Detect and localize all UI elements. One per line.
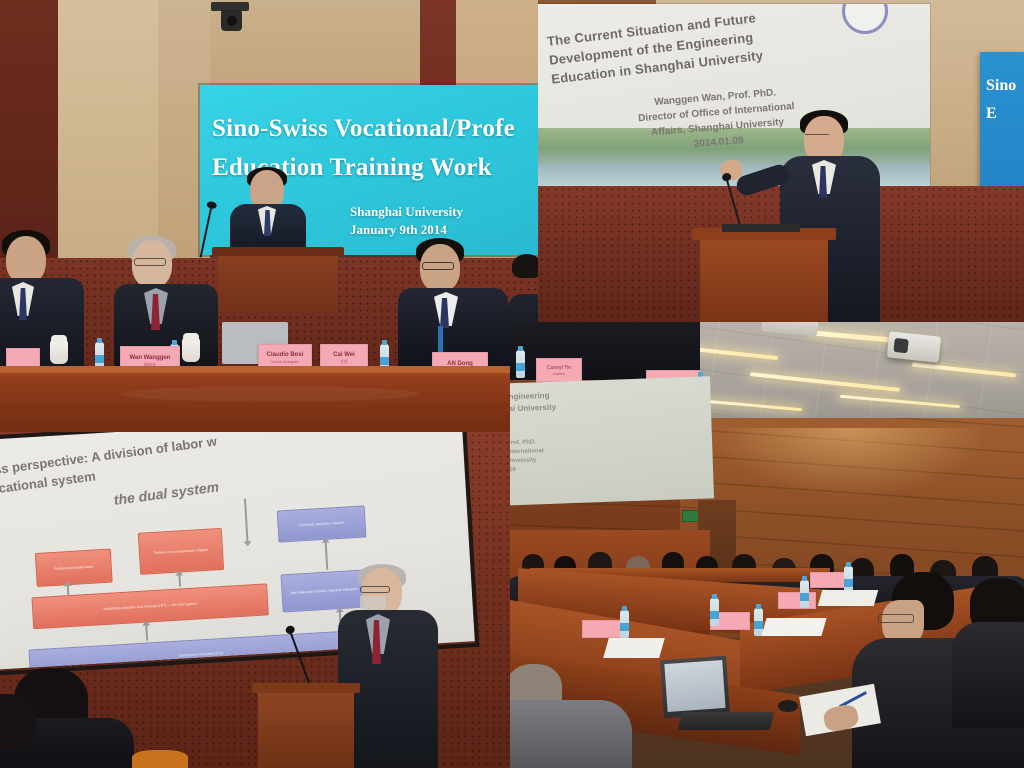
laptop-display [664,660,725,712]
audience-bag-orange [132,750,188,768]
wall-light-glow [710,428,990,498]
nameplate [778,592,816,609]
diagram-arrow-up [178,574,181,586]
ceiling-projector-icon [887,331,941,362]
water-bottle [710,598,719,626]
diagram-arrow-down [244,498,249,542]
nameplate-name: Claudio Bosi [259,352,311,359]
table-highlight [120,386,420,402]
tea-cup [50,340,68,364]
panel-table-front [0,366,538,432]
panelist-3-glasses-icon [422,262,454,270]
podium [258,690,354,768]
diagram-arrow-up [145,625,148,641]
attendee-jacket [952,622,1024,728]
panelist-4-hair [512,254,538,278]
panel-dual-system-talk: wiss perspective: A division of labor w … [0,432,510,768]
foreground-attendee-left [510,664,646,768]
banner-line2: E [986,100,1024,128]
paper-document [761,618,826,636]
slide-title: The Current Situation and Future Develop… [546,4,851,89]
laptop-screen [660,656,730,718]
panelist-1-head [6,236,46,284]
nameplate-name: Cai Wei [321,352,367,359]
water-bottle [800,580,809,608]
nameplate-title: 主任 [321,359,367,365]
paper-document [603,638,665,658]
lectern [700,236,828,322]
diagram-slide-title: wiss perspective: A division of labor w … [0,432,450,500]
water-bottle [620,610,629,638]
water-bottle [516,350,525,378]
computer-mouse-icon [778,700,798,712]
nameplate: Cuneyt Tin Invitee [536,358,582,382]
camera-lens [227,16,237,26]
tea-cup [182,338,200,362]
nameplate-title: Swiss Delegate [259,359,311,365]
banner-text: Sino E [986,72,1024,128]
panel-opening-session: Sino-Swiss Vocational/Profe Education Tr… [0,0,538,432]
nameplate [582,620,622,638]
diagram-arrow-up [325,542,329,570]
attendee-glasses-icon [878,614,914,623]
projection-screen-small: f Engineering ghai University n, Prof. P… [510,376,714,505]
laptop-keyboard [678,712,774,730]
nameplate-name: Wan Wanggen [121,355,179,362]
attendee-jacket [510,700,632,768]
diagram-box: Compulsory schooling (9 yr) [29,629,374,669]
panel-keynote-presentation: The Current Situation and Future Develop… [538,0,1024,322]
podium [218,250,338,312]
slide-subtitle-line2: January 9th 2014 [350,221,538,239]
lectern-notes [722,224,800,232]
wall-left [0,0,58,260]
blue-standing-banner: Sino E [980,52,1024,202]
diagram-box: Tertiary level professional colleges [138,528,224,575]
presenter-glasses-icon [360,586,390,593]
university-logo-icon [842,4,888,34]
panelist-2-glasses-icon [134,258,166,266]
nameplate-title: Invitee [537,371,581,376]
nameplate [810,572,846,588]
slide-title-line1: Sino-Swiss Vocational/Profe [212,109,538,148]
ceiling-camera-icon [205,0,251,34]
panel-room-wide-view: Cuneyt Tin Invitee Lu Juan 主持 f Engineer… [510,322,1024,768]
diagram-callout: the dual system [113,478,220,507]
photo-collage: Sino-Swiss Vocational/Profe Education Tr… [0,0,1024,768]
diagram-arrow-up [67,585,70,595]
banner-line1: Sino [986,72,1024,100]
foreground-attendee-far-right [960,578,1024,728]
slide-subtitle-line1: Shanghai University [350,203,538,221]
slide-subtitle: Shanghai University January 9th 2014 [350,203,538,239]
wall-panel-beige [58,0,158,268]
small-screen-title: f Engineering ghai University [510,384,714,416]
diagram-box: Professional qualification [35,549,113,587]
presenter-glasses-icon [805,134,829,139]
small-screen-subtitle: n, Prof. PhD. of International ai Univer… [510,432,714,476]
